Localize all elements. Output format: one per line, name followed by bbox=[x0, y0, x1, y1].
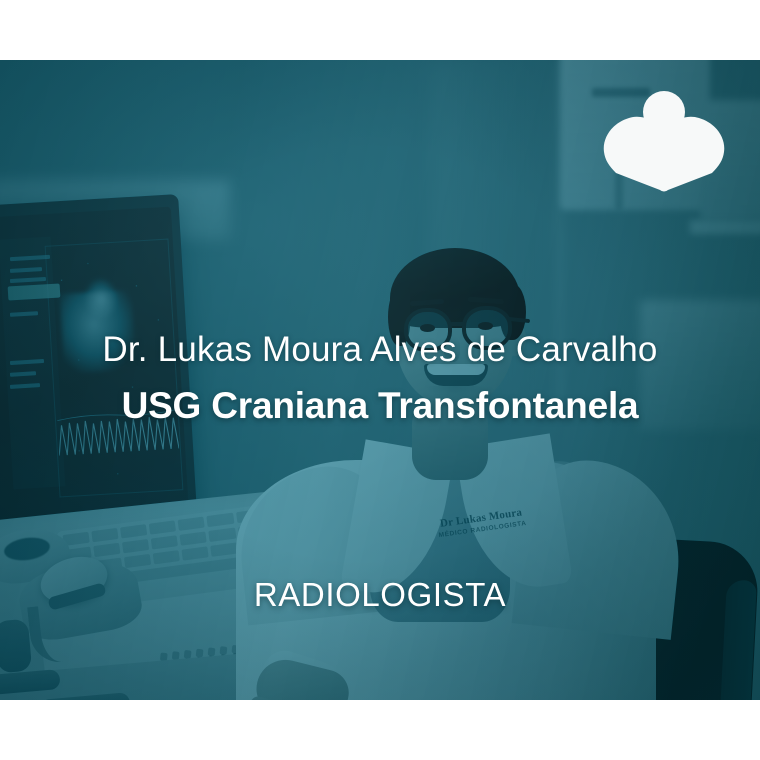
person-heart-logo-icon bbox=[598, 88, 730, 192]
doctor-procedure-card: Dr Lukas Moura MÉDICO RADIOLOGISTA Dr. L… bbox=[0, 0, 760, 760]
